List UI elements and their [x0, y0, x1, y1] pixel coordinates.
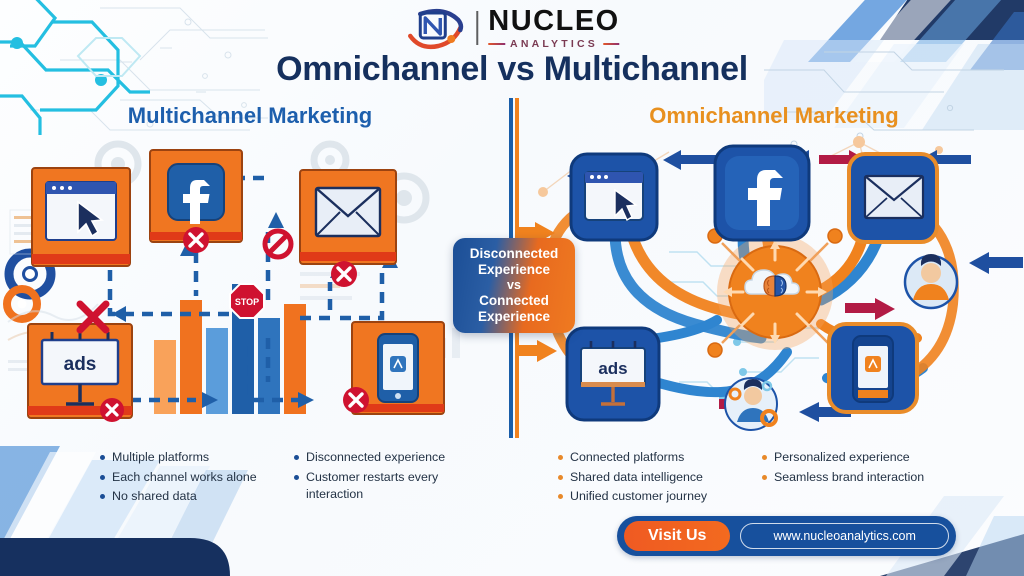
website-card — [32, 168, 130, 266]
left-panel-title: Multichannel Marketing — [0, 103, 500, 129]
list-item: Connected platforms — [556, 449, 746, 467]
ads-card: ads — [567, 328, 659, 420]
logo-divider — [476, 11, 478, 45]
list-item: Each channel works alone — [98, 469, 278, 487]
badge-line-4: Experience — [478, 309, 550, 325]
facebook-card — [715, 146, 809, 240]
list-item: No shared data — [98, 488, 278, 506]
logo-rule-left — [488, 43, 505, 45]
nucleo-n-emblem-icon — [404, 6, 466, 50]
badge-vs: vs — [507, 278, 521, 293]
badge-line-3: Connected — [479, 293, 549, 309]
logo-wordmark: NUCLEO ANALYTICS — [488, 7, 619, 50]
mobile-card — [829, 324, 917, 412]
bullet-column-1: Multiple platforms Each channel works al… — [98, 449, 278, 508]
website-card — [571, 154, 657, 240]
bullet-column-2: Personalized experience Seamless brand i… — [760, 449, 940, 508]
right-panel-title: Omnichannel Marketing — [524, 103, 1024, 129]
brand-logo: NUCLEO ANALYTICS — [404, 6, 619, 50]
bullet-column-1: Connected platforms Shared data intellig… — [556, 449, 746, 508]
stop-sign-marker: STOP — [230, 284, 264, 318]
personalization-gears-icon — [725, 378, 777, 430]
svg-text:ads: ads — [64, 354, 97, 375]
visit-us-button[interactable]: Visit Us — [624, 521, 730, 551]
list-item: Multiple platforms — [98, 449, 278, 467]
email-card — [849, 154, 937, 242]
list-item: Customer restarts every interaction — [292, 469, 467, 504]
list-item: Unified customer journey — [556, 488, 746, 506]
list-item: Seamless brand interaction — [760, 469, 940, 487]
badge-line-1: Disconnected — [470, 246, 559, 262]
svg-text:STOP: STOP — [235, 297, 259, 307]
list-item: Disconnected experience — [292, 449, 467, 467]
website-url[interactable]: www.nucleoanalytics.com — [740, 523, 949, 549]
list-item: Personalized experience — [760, 449, 940, 467]
blocked-marker-x — [343, 387, 369, 413]
bullet-column-2: Disconnected experience Customer restart… — [292, 449, 467, 508]
center-comparison-badge: Disconnected Experience vs Connected Exp… — [453, 238, 575, 333]
logo-name: NUCLEO — [488, 7, 619, 36]
email-card — [300, 170, 396, 264]
cta-bar[interactable]: Visit Us www.nucleoanalytics.com — [617, 516, 956, 556]
page-title: Omnichannel vs Multichannel — [0, 50, 1024, 89]
svg-text:ads: ads — [598, 359, 627, 378]
multichannel-diagram: ads — [0, 132, 505, 437]
blocked-marker-x — [331, 261, 357, 287]
blocked-marker-x — [183, 227, 209, 253]
blocked-marker-no-entry — [265, 231, 291, 257]
multichannel-bullets: Multiple platforms Each channel works al… — [98, 449, 467, 508]
blocked-marker-x — [100, 398, 124, 422]
badge-line-2: Experience — [478, 262, 550, 278]
logo-rule-right — [603, 43, 620, 45]
omnichannel-diagram: ads — [519, 132, 1024, 437]
omnichannel-bullets: Connected platforms Shared data intellig… — [556, 449, 940, 508]
logo-subtitle: ANALYTICS — [510, 39, 598, 50]
data-intelligence-hub — [708, 229, 842, 357]
list-item: Shared data intelligence — [556, 469, 746, 487]
customer-avatar-icon — [905, 254, 957, 308]
infographic-canvas: NUCLEO ANALYTICS Omnichannel vs Multicha… — [0, 0, 1024, 576]
